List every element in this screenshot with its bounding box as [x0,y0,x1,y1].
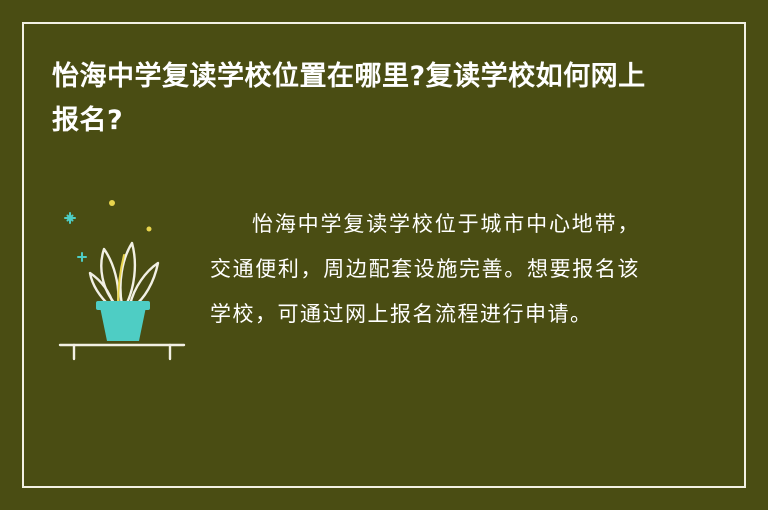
potted-plant-illustration [52,189,192,369]
plant-pot [100,307,146,341]
sparkle-icon [65,213,75,223]
plant-leaves [90,243,158,306]
poster-card: 怡海中学复读学校位置在哪里?复读学校如何网上报名? [0,0,768,510]
content-area: 怡海中学复读学校位置在哪里?复读学校如何网上报名? [52,55,716,455]
potted-plant-svg [52,189,192,369]
page-title: 怡海中学复读学校位置在哪里?复读学校如何网上报名? [52,55,662,143]
dot-icon [147,227,152,232]
pot-rim [96,301,150,310]
body-area: 怡海中学复读学校位于城市中心地带，交通便利，周边配套设施完善。想要报名该学校，可… [52,181,716,369]
article-body: 怡海中学复读学校位于城市中心地带，交通便利，周边配套设施完善。想要报名该学校，可… [210,202,640,337]
dot-icon [109,200,115,206]
sparkle-small-icon [78,253,86,261]
